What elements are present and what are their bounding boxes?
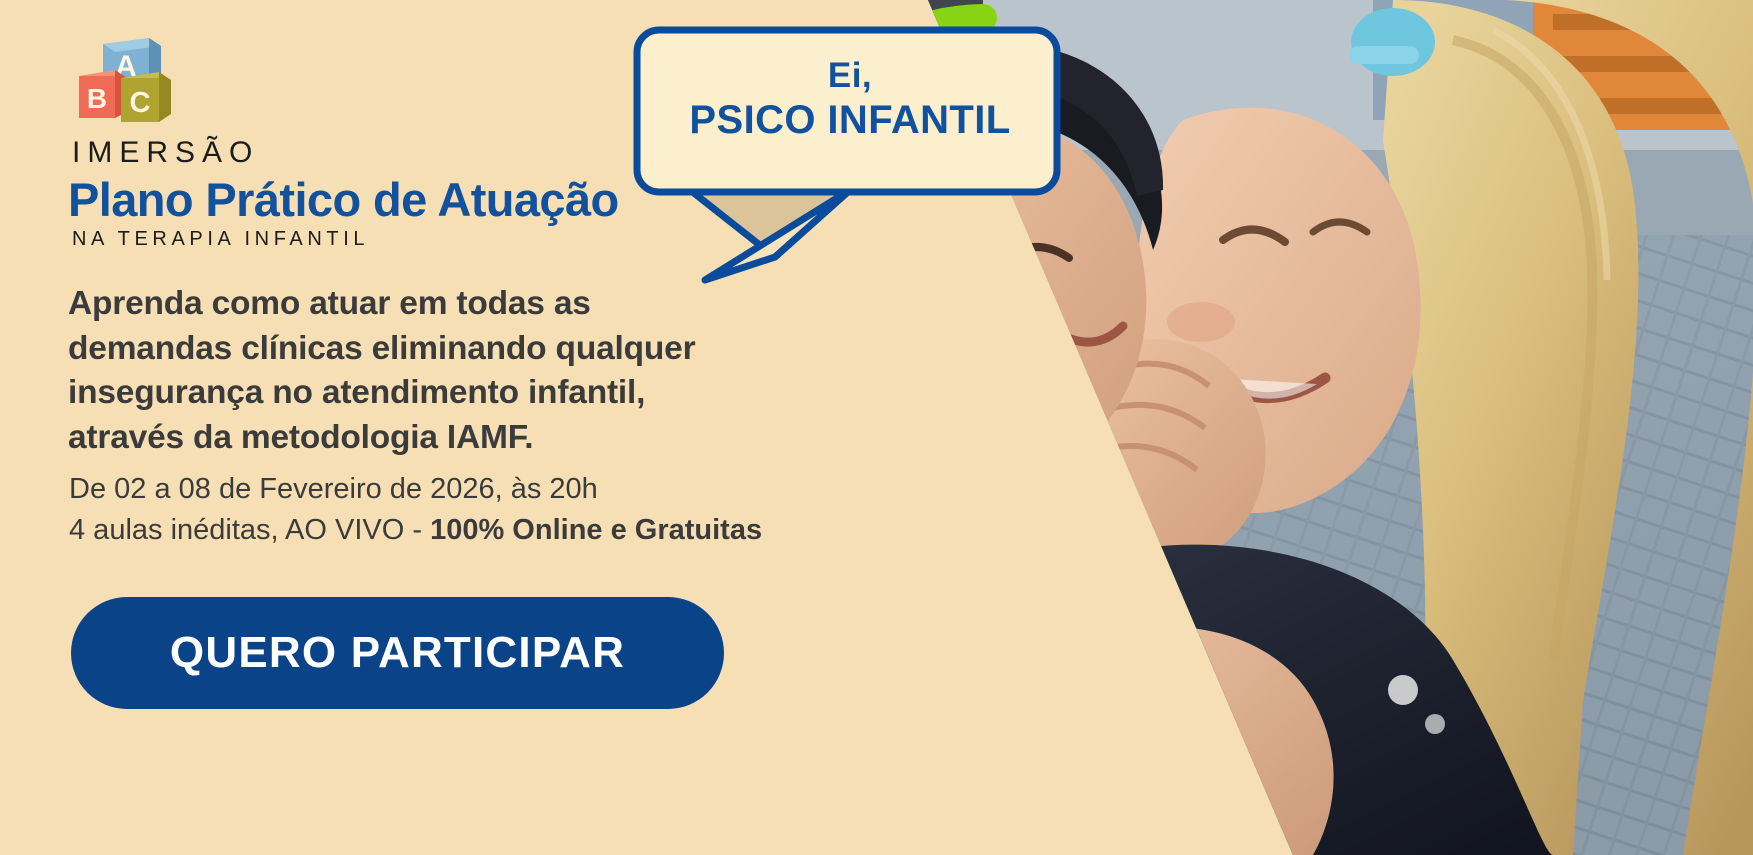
event-date: De 02 a 08 de Fevereiro de 2026, às 20h (69, 470, 919, 509)
bubble-line-1: Ei, (828, 58, 872, 95)
lead-line-4: através da metodologia IAMF. (68, 416, 858, 461)
lead-line-3: insegurança no atendimento infantil, (68, 371, 858, 416)
page-subtitle: NA TERAPIA INFANTIL (72, 229, 369, 249)
quero-participar-button[interactable]: QUERO PARTICIPAR (71, 597, 724, 709)
eyebrow-imersao: IMERSÃO (72, 138, 259, 168)
lead-paragraph: Aprenda como atuar em todas as demandas … (68, 282, 858, 460)
event-format: 4 aulas inéditas, AO VIVO - 100% Online … (69, 511, 919, 550)
event-format-prefix: 4 aulas inéditas, AO VIVO - (69, 514, 430, 546)
lead-line-2: demandas clínicas eliminando qualquer (68, 327, 858, 372)
event-format-highlight: 100% Online e Gratuitas (430, 514, 762, 546)
lead-line-1: Aprenda como atuar em todas as (68, 282, 858, 327)
promo-banner: A B C IMERSÃO Plano Prático de Atuação N… (0, 0, 1753, 855)
bubble-line-2: PSICO INFANTIL (689, 99, 1010, 141)
abc-blocks-icon: A B C (73, 26, 181, 130)
svg-text:C: C (130, 87, 151, 119)
svg-text:B: B (87, 83, 107, 114)
page-title: Plano Prático de Atuação (68, 172, 619, 227)
speech-bubble-text: Ei, PSICO INFANTIL (625, 12, 1075, 187)
